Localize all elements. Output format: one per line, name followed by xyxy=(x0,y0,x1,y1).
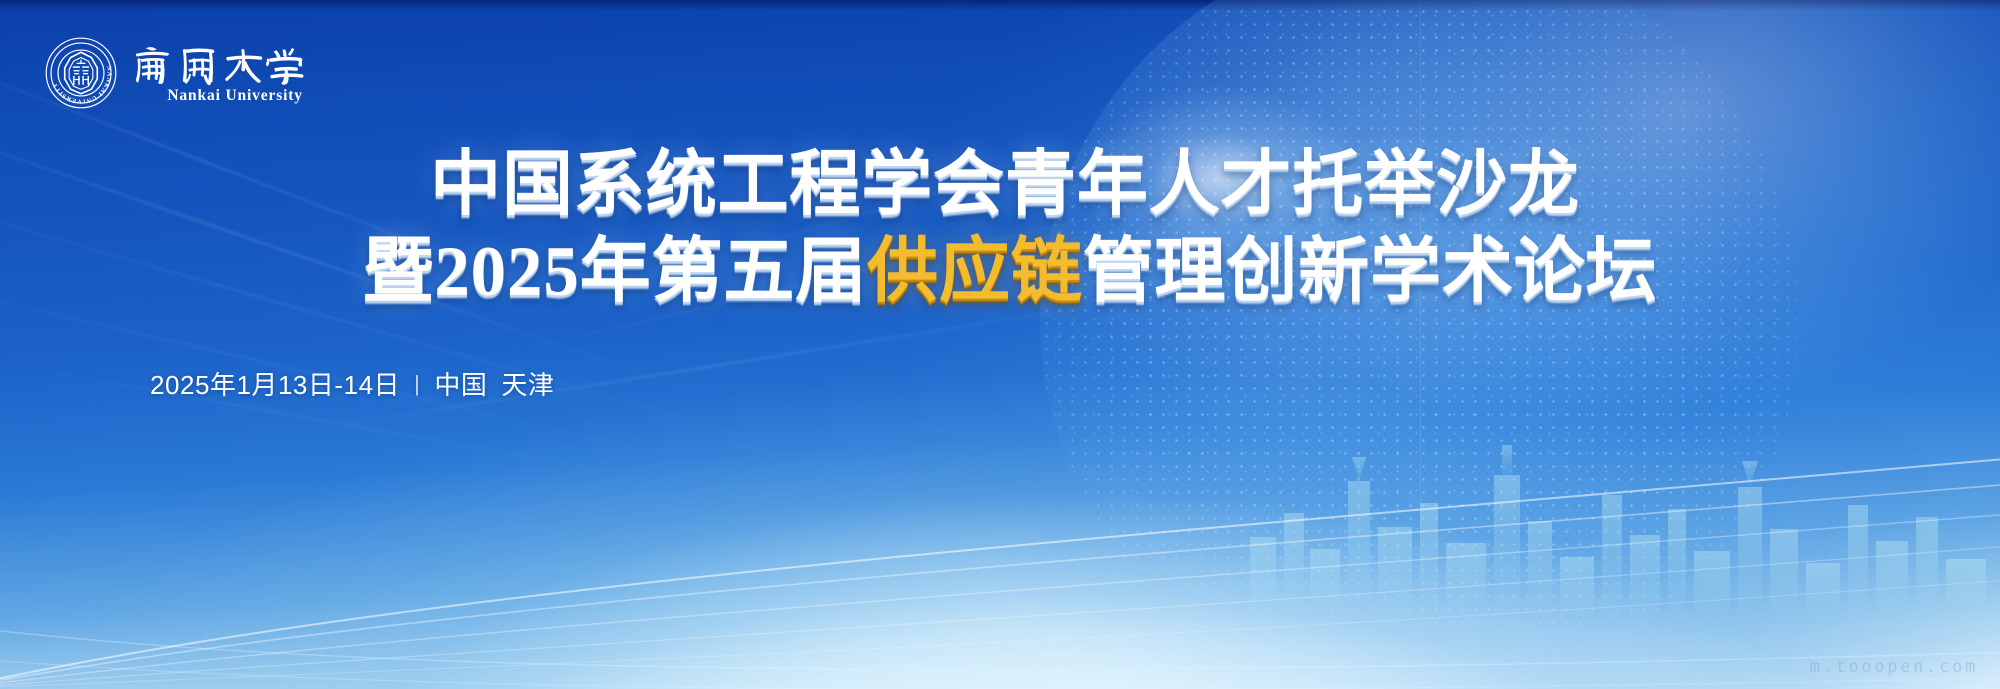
logo-wordmark: Nankai University xyxy=(132,42,338,104)
subtitle-separator: | xyxy=(414,371,420,397)
title-line-2-part-3: 管理创新学术论坛 xyxy=(1083,233,1658,311)
title-block: 中国系统工程学会青年人才托举沙龙 暨2025年第五届供应链管理创新学术论坛 xyxy=(0,148,2000,311)
title-line-2: 暨2025年第五届供应链管理创新学术论坛 xyxy=(0,235,2000,310)
title-line-2-highlight: 供应链 xyxy=(867,233,1083,311)
subtitle-line: 2025年1月13日-14日 | 中国 天津 xyxy=(150,365,554,402)
source-watermark: m.tooopen.com xyxy=(1810,657,1978,677)
title-line-1: 中国系统工程学会青年人才托举沙龙 xyxy=(0,148,2000,223)
nankai-wordmark-cn-icon xyxy=(132,42,338,86)
nankai-seal-icon: NANKAI UNIVERSITY 1919 xyxy=(44,36,118,110)
event-country: 中国 xyxy=(434,365,487,402)
logo-wordmark-en: Nankai University xyxy=(132,88,338,104)
title-line-2-part-1: 暨2025年第五届 xyxy=(362,233,867,311)
conference-banner: NANKAI UNIVERSITY 1919 xyxy=(0,0,2000,689)
title-line-1-text: 中国系统工程学会青年人才托举沙龙 xyxy=(430,146,1580,224)
event-date: 2025年1月13日-14日 xyxy=(150,365,400,402)
event-city: 天津 xyxy=(501,365,554,402)
ribbon-swirls-decor xyxy=(0,389,2000,689)
logo-lockup: NANKAI UNIVERSITY 1919 xyxy=(44,36,338,110)
